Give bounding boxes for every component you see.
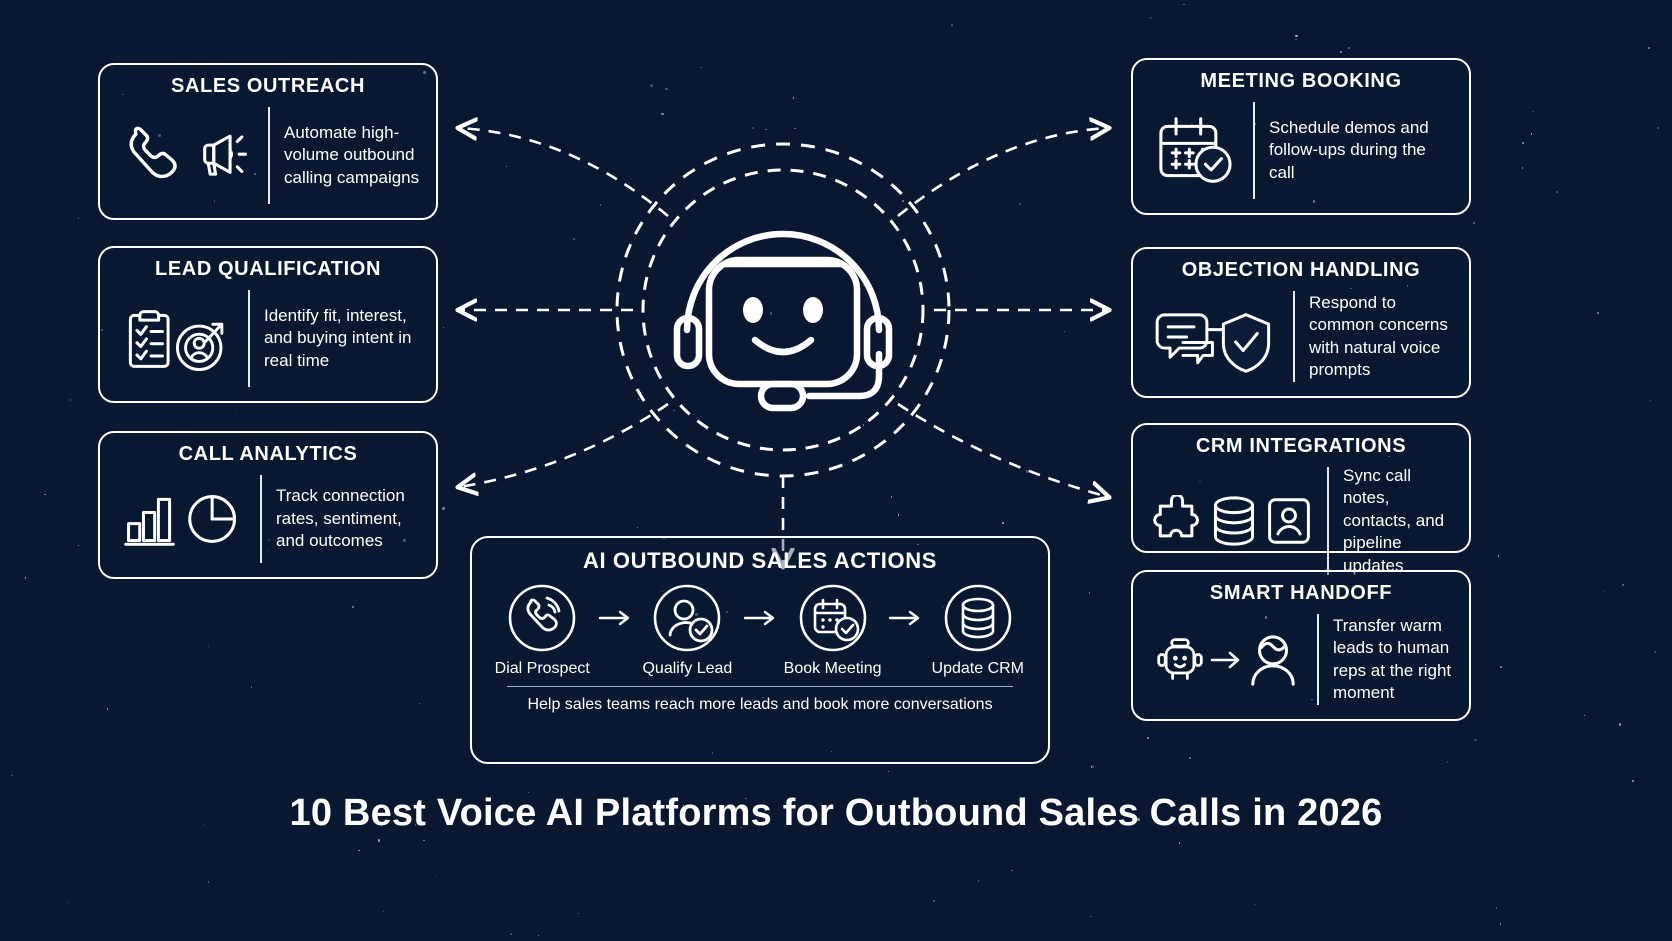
star	[1179, 842, 1181, 844]
megaphone-icon	[192, 127, 250, 185]
star	[423, 840, 425, 842]
page-title: 10 Best Voice AI Platforms for Outbound …	[0, 792, 1672, 835]
star	[1657, 127, 1660, 130]
card-call-analytics[interactable]: CALL ANALYTICS	[98, 431, 438, 579]
star	[1654, 651, 1656, 653]
arrow-right-icon	[597, 607, 633, 629]
star	[891, 496, 893, 498]
star	[1584, 715, 1586, 717]
star	[314, 406, 316, 408]
star	[1319, 845, 1321, 847]
star	[578, 913, 580, 915]
card-title: CALL ANALYTICS	[179, 443, 358, 465]
card-icons	[1147, 299, 1283, 375]
star	[443, 327, 445, 329]
ai-outbound-sales-actions-panel[interactable]: AI OUTBOUND SALES ACTIONS Dial Prospect	[470, 536, 1050, 764]
star	[1189, 757, 1191, 759]
card-icons	[114, 490, 250, 548]
card-divider	[1327, 467, 1329, 575]
card-objection-handling[interactable]: OBJECTION HANDLING	[1131, 247, 1471, 398]
star	[66, 902, 68, 904]
star	[1556, 191, 1558, 193]
arrow-right-icon	[887, 607, 923, 629]
star	[1089, 592, 1091, 594]
card-title: SALES OUTREACH	[171, 75, 365, 97]
star	[208, 881, 210, 883]
pie-chart-icon	[186, 491, 242, 547]
puzzle-piece-icon	[1151, 495, 1203, 547]
card-divider	[248, 290, 250, 387]
star	[358, 850, 360, 852]
star	[208, 645, 210, 647]
card-title: LEAD QUALIFICATION	[155, 258, 381, 280]
star	[70, 399, 72, 401]
phone-handset-icon	[122, 124, 186, 188]
star	[510, 933, 512, 935]
star	[25, 577, 27, 579]
star	[1532, 111, 1534, 113]
step-dial-prospect[interactable]: Dial Prospect	[488, 582, 596, 678]
star	[1447, 761, 1449, 763]
star	[1091, 765, 1094, 768]
database-icon	[1209, 494, 1259, 548]
calendar-check-circle-icon	[797, 582, 869, 654]
star	[650, 84, 653, 87]
card-divider	[1253, 102, 1255, 199]
card-body: Respond to common concerns with natural …	[1147, 289, 1455, 384]
star	[1597, 312, 1599, 314]
star	[1650, 400, 1652, 402]
star	[1254, 904, 1256, 906]
star	[1622, 584, 1625, 587]
arrow-right-icon	[742, 607, 778, 629]
step-update-crm[interactable]: Update CRM	[924, 582, 1032, 678]
phone-ring-circle-icon	[506, 582, 578, 654]
star	[378, 839, 381, 842]
card-body: Sync call notes, contacts, and pipeline …	[1147, 465, 1455, 577]
card-description: Schedule demos and follow-ups during the…	[1269, 117, 1455, 184]
card-icons	[114, 303, 238, 375]
panel-title: AI OUTBOUND SALES ACTIONS	[583, 548, 937, 574]
panel-footer-text: Help sales teams reach more leads and bo…	[527, 696, 992, 714]
star	[1603, 591, 1605, 593]
person-check-circle-icon	[651, 582, 723, 654]
star	[1348, 47, 1350, 49]
star	[637, 527, 639, 529]
star	[1149, 17, 1152, 20]
star	[700, 67, 702, 69]
card-body: Identify fit, interest, and buying inten…	[114, 288, 422, 389]
contact-card-icon	[1265, 495, 1313, 547]
step-label: Book Meeting	[784, 660, 882, 678]
star	[78, 217, 80, 219]
card-meeting-booking[interactable]: MEETING BOOKING	[1131, 58, 1471, 215]
star	[506, 166, 508, 168]
infographic-canvas: SALES OUTREACH Automate high-volum	[0, 0, 1672, 941]
card-description: Automate high-volume outbound calling ca…	[284, 122, 422, 189]
card-icons	[114, 124, 258, 188]
card-title: SMART HANDOFF	[1210, 582, 1392, 604]
card-body: Transfer warm leads to human reps at the…	[1147, 612, 1455, 707]
ai-agent-hub	[613, 140, 953, 480]
star	[752, 127, 754, 129]
star	[888, 771, 890, 773]
card-crm-integrations[interactable]: CRM INTEGRATIONS	[1131, 423, 1471, 553]
person-icon	[1247, 632, 1299, 688]
card-title: OBJECTION HANDLING	[1182, 259, 1421, 281]
star	[1295, 39, 1297, 41]
star	[1473, 222, 1476, 225]
card-title: CRM INTEGRATIONS	[1196, 435, 1406, 457]
card-description: Transfer warm leads to human reps at the…	[1333, 615, 1455, 705]
card-divider	[1293, 291, 1295, 382]
card-body: Schedule demos and follow-ups during the…	[1147, 100, 1455, 201]
step-label: Dial Prospect	[495, 660, 590, 678]
star	[1026, 470, 1029, 473]
star	[1619, 723, 1622, 726]
star	[1474, 739, 1477, 742]
star	[765, 129, 767, 131]
star	[665, 88, 668, 91]
card-description: Identify fit, interest, and buying inten…	[264, 305, 422, 372]
card-description: Sync call notes, contacts, and pipeline …	[1343, 465, 1455, 577]
step-qualify-lead[interactable]: Qualify Lead	[633, 582, 741, 678]
action-steps: Dial Prospect	[488, 582, 1032, 678]
star	[1522, 167, 1524, 169]
star	[436, 876, 438, 878]
star	[600, 204, 602, 206]
card-body: Automate high-volume outbound calling ca…	[114, 105, 422, 206]
card-body: Track connection rates, sentiment, and o…	[114, 473, 422, 565]
star	[538, 935, 540, 937]
hub-outer-ring	[617, 144, 949, 476]
card-divider	[268, 107, 270, 204]
star	[1522, 142, 1524, 144]
star	[1340, 51, 1343, 54]
target-person-arrow-icon	[172, 317, 230, 375]
star	[383, 911, 385, 913]
card-lead-qualification[interactable]: LEAD QUALIFICATION	[98, 246, 438, 403]
step-book-meeting[interactable]: Book Meeting	[778, 582, 886, 678]
star	[1154, 865, 1156, 867]
star	[78, 545, 80, 547]
star	[933, 900, 935, 902]
arrow-right-icon	[1209, 647, 1243, 673]
star	[951, 24, 953, 26]
shield-check-icon	[1217, 309, 1275, 375]
star	[794, 128, 796, 130]
star	[251, 686, 253, 688]
card-description: Respond to common concerns with natural …	[1309, 292, 1455, 382]
star	[734, 9, 736, 11]
star	[352, 606, 355, 609]
star	[1037, 134, 1039, 136]
bar-chart-icon	[122, 490, 178, 548]
star	[573, 238, 576, 241]
star	[1500, 923, 1502, 925]
star	[107, 708, 109, 710]
star	[1632, 780, 1634, 782]
star	[661, 113, 664, 116]
star	[235, 410, 237, 412]
star	[442, 507, 445, 510]
panel-divider	[507, 686, 1013, 687]
star	[978, 880, 980, 882]
star	[1295, 35, 1298, 38]
star	[1011, 870, 1013, 872]
star	[1183, 4, 1185, 6]
star	[793, 97, 795, 99]
card-icons	[1147, 115, 1243, 187]
star	[1002, 522, 1004, 524]
star	[1531, 133, 1533, 135]
card-divider	[1317, 614, 1319, 705]
star	[1498, 555, 1500, 557]
star	[44, 494, 46, 496]
star	[1064, 331, 1066, 333]
star	[1019, 203, 1021, 205]
star	[1147, 737, 1150, 740]
robot-icon	[1155, 634, 1205, 686]
star	[11, 775, 13, 777]
robot-headset-icon	[677, 234, 889, 408]
step-arrow	[887, 582, 924, 654]
star	[1648, 47, 1650, 49]
card-smart-handoff[interactable]: SMART HANDOFF	[1131, 570, 1471, 721]
card-icons	[1147, 494, 1317, 548]
star	[419, 703, 421, 705]
step-label: Update CRM	[932, 660, 1024, 678]
card-title: MEETING BOOKING	[1200, 70, 1401, 92]
card-divider	[260, 475, 262, 563]
card-icons	[1147, 632, 1307, 688]
step-arrow	[742, 582, 779, 654]
star	[1496, 907, 1498, 909]
star	[1500, 666, 1502, 668]
calendar-check-icon	[1155, 115, 1235, 187]
database-circle-icon	[942, 582, 1014, 654]
card-description: Track connection rates, sentiment, and o…	[276, 485, 422, 552]
star	[1090, 916, 1092, 918]
step-label: Qualify Lead	[642, 660, 732, 678]
step-arrow	[596, 582, 633, 654]
star	[898, 514, 900, 516]
card-sales-outreach[interactable]: SALES OUTREACH Automate high-volum	[98, 63, 438, 220]
